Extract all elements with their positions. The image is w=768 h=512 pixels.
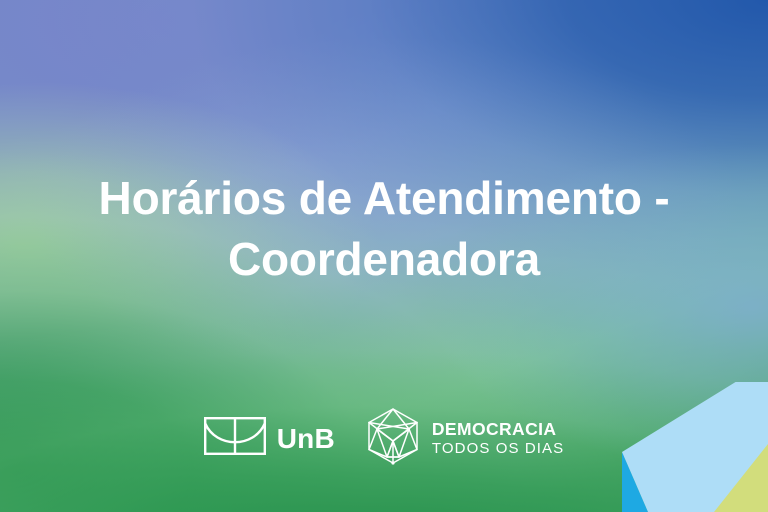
democracia-line-2: TODOS OS DIAS bbox=[432, 441, 564, 456]
unb-wordmark: UnB bbox=[277, 425, 335, 453]
page-title: Horários de Atendimento -Coordenadora bbox=[44, 168, 724, 289]
democracia-logo: DEMOCRACIA TODOS OS DIAS bbox=[365, 407, 564, 470]
unb-logo-mark-icon bbox=[204, 417, 266, 460]
banner-canvas: Horários de Atendimento -Coordenadora Un… bbox=[0, 0, 768, 512]
title-line-2: Coordenadora bbox=[228, 233, 540, 285]
logo-bar: UnB bbox=[0, 407, 768, 470]
title-line-1: Horários de Atendimento - bbox=[99, 172, 670, 224]
unb-logo: UnB bbox=[204, 417, 335, 460]
democracia-wordmark: DEMOCRACIA TODOS OS DIAS bbox=[432, 421, 564, 456]
democracia-line-1: DEMOCRACIA bbox=[432, 421, 564, 439]
democracia-polyhedron-mark-icon bbox=[365, 407, 421, 470]
title-block: Horários de Atendimento -Coordenadora bbox=[0, 168, 768, 289]
